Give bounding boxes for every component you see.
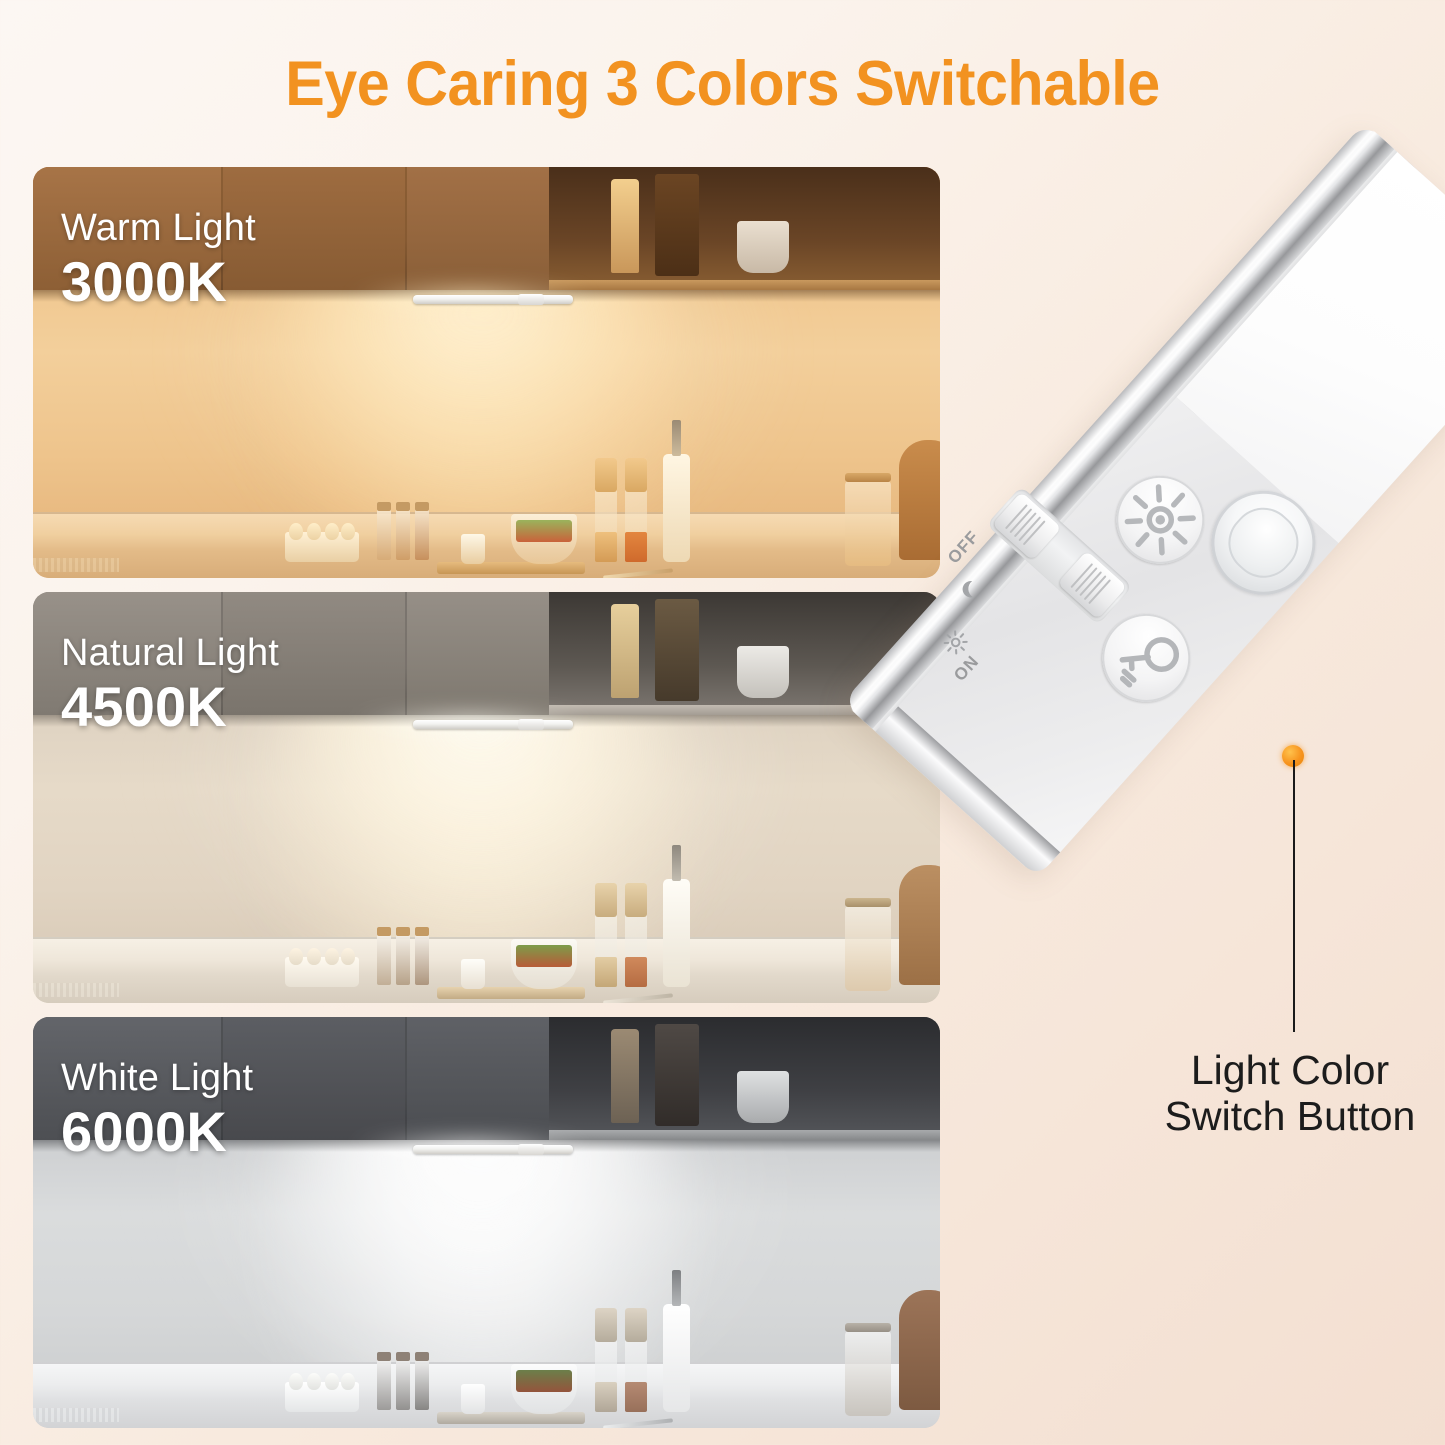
oil-bottle — [663, 1304, 690, 1412]
counter-edge — [33, 1362, 940, 1364]
shelf-lip — [549, 1130, 940, 1140]
scene-panel-warm: Warm Light 3000K — [33, 167, 940, 578]
egg-carton — [285, 1382, 359, 1412]
led-bar-fixture — [413, 1145, 573, 1154]
open-shelf-niche — [549, 167, 940, 290]
small-glass-cup — [461, 534, 485, 564]
wooden-cutting-board — [437, 987, 585, 999]
callout-line-2: Switch Button — [1135, 1094, 1445, 1140]
pepper-mill-pair — [595, 1308, 651, 1412]
cabinet-door — [407, 167, 549, 290]
wooden-cutting-board — [437, 562, 585, 574]
round-serving-board — [899, 1290, 940, 1410]
salad-bowl — [511, 939, 577, 989]
scene-panel-white: White Light 6000K — [33, 1017, 940, 1428]
wooden-cutting-board — [437, 1412, 585, 1424]
pepper-mill-pair — [595, 883, 651, 987]
spice-jar-rack — [375, 1348, 433, 1412]
spice-jar-rack — [375, 923, 433, 987]
color-temperature: 6000K — [61, 1101, 253, 1163]
product-photo: OFF ON — [920, 140, 1445, 1000]
cabinet-door — [407, 1017, 549, 1140]
caption-natural: Natural Light 4500K — [61, 634, 279, 737]
drying-mat — [33, 983, 119, 997]
pasta-storage-jar — [845, 1330, 891, 1416]
oil-bottle — [663, 454, 690, 562]
led-bar-fixture — [413, 295, 573, 304]
egg-carton — [285, 532, 359, 562]
callout-line-1: Light Color — [1135, 1048, 1445, 1094]
small-glass-cup — [461, 959, 485, 989]
pepper-mill-pair — [595, 458, 651, 562]
spice-jar-rack — [375, 498, 433, 562]
pasta-storage-jar — [845, 480, 891, 566]
callout-leader-line — [1293, 760, 1295, 1032]
caption-warm: Warm Light 3000K — [61, 209, 256, 312]
scene-panel-natural: Natural Light 4500K — [33, 592, 940, 1003]
egg-carton — [285, 957, 359, 987]
mode-label: White Light — [61, 1059, 253, 1099]
led-sensor-module — [518, 719, 544, 730]
mode-label: Natural Light — [61, 634, 279, 674]
open-shelf-niche — [549, 1017, 940, 1140]
counter-edge — [33, 512, 940, 514]
shelf-lip — [549, 280, 940, 290]
small-glass-cup — [461, 1384, 485, 1414]
counter-edge — [33, 937, 940, 939]
salad-bowl — [511, 1364, 577, 1414]
oil-bottle — [663, 879, 690, 987]
drying-mat — [33, 1408, 119, 1422]
led-bar-fixture — [413, 720, 573, 729]
color-temperature: 3000K — [61, 251, 256, 313]
caption-white: White Light 6000K — [61, 1059, 253, 1162]
page-title: Eye Caring 3 Colors Switchable — [43, 48, 1401, 120]
led-bar-product: OFF ON — [843, 123, 1445, 878]
color-temperature: 4500K — [61, 676, 279, 738]
salad-bowl — [511, 514, 577, 564]
cabinet-door — [407, 592, 549, 715]
led-sensor-module — [518, 294, 544, 305]
callout-label: Light Color Switch Button — [1135, 1048, 1445, 1140]
product-infographic: Eye Caring 3 Colors Switchable — [0, 0, 1445, 1445]
led-sensor-module — [518, 1144, 544, 1155]
drying-mat — [33, 558, 119, 572]
pasta-storage-jar — [845, 905, 891, 991]
mode-label: Warm Light — [61, 209, 256, 249]
